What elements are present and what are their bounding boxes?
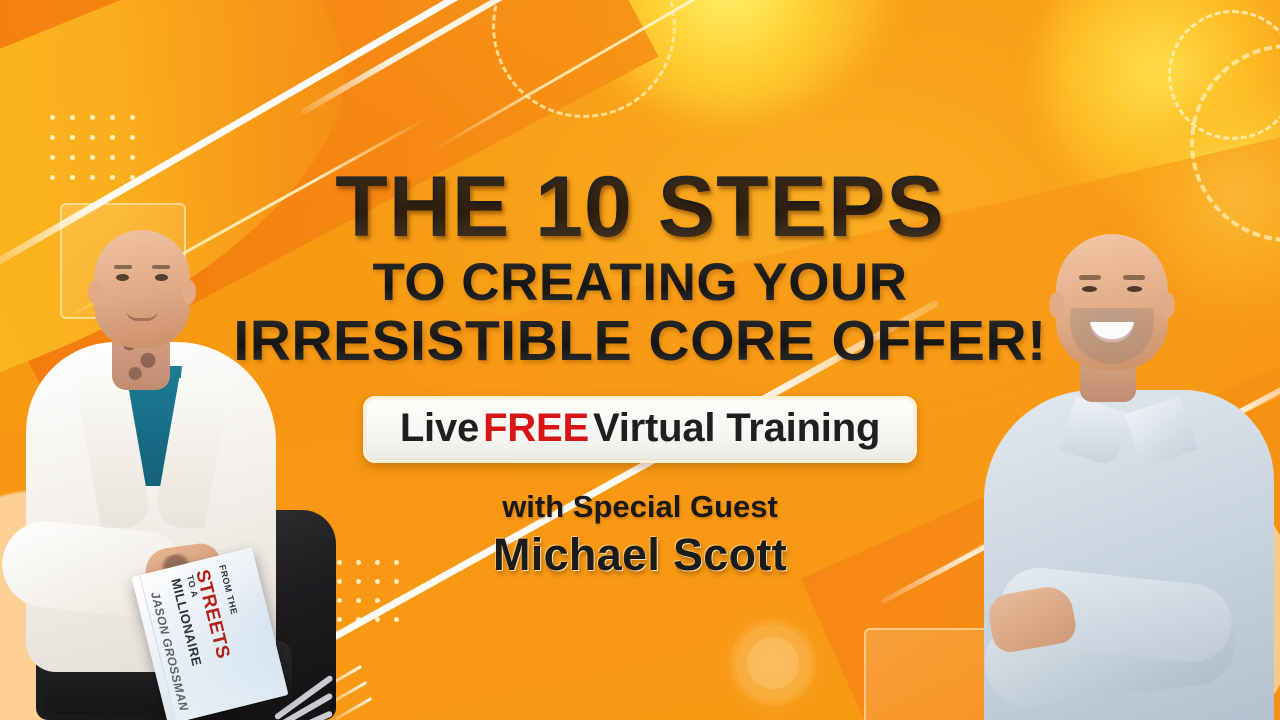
badge-suffix: Virtual Training [593,406,880,451]
guest-name: Michael Scott [0,529,1280,581]
live-free-virtual-training-badge[interactable]: Live FREE Virtual Training [363,396,917,463]
headline-line-1: THE 10 STEPS [0,168,1280,248]
headline-line-3: IRRESISTIBLE CORE OFFER! [0,312,1280,370]
promo-slide: FROM THE STREETS TO A MILLIONAIRE JASON … [0,0,1280,720]
soft-circle-inner [730,620,816,706]
headline-block: THE 10 STEPS TO CREATING YOUR IRRESISTIB… [0,168,1280,581]
badge-free-highlight: FREE [479,406,593,451]
training-badge-wrap: Live FREE Virtual Training [0,396,1280,463]
guest-intro-label: with Special Guest [0,489,1280,525]
badge-prefix: Live [400,406,479,451]
headline-line-2: TO CREATING YOUR [0,256,1280,310]
